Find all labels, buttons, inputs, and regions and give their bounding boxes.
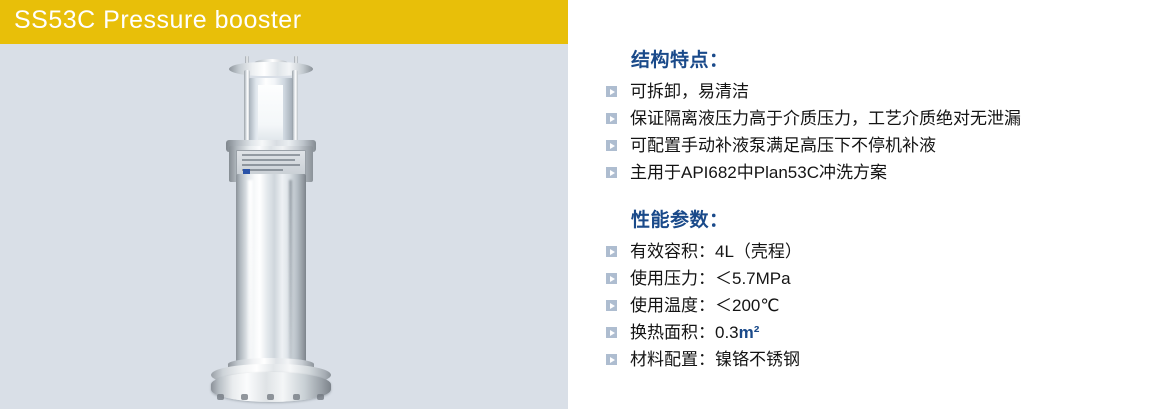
- play-triangle-icon: [606, 140, 617, 151]
- list-item: 可拆卸，易清洁: [606, 80, 1165, 103]
- list-item: 使用压力： ＜5.7MPa: [606, 267, 1165, 290]
- vessel-body: [236, 174, 306, 374]
- parameter-value: 镍铬不锈钢: [715, 348, 800, 371]
- list-item: 主用于API682中Plan53C冲洗方案: [606, 161, 1165, 184]
- play-triangle-icon: [606, 354, 617, 365]
- base-bolts: [211, 388, 331, 400]
- list-item-label: 主用于API682中Plan53C冲洗方案: [630, 161, 887, 184]
- parameter-label: 换热面积：: [630, 321, 715, 344]
- product-title-bar: SS53C Pressure booster: [0, 0, 568, 44]
- parameter-label: 使用温度：: [630, 294, 715, 317]
- section-structure: 结构特点： 可拆卸，易清洁 保证隔离液压力高于介质压力，工艺介质绝对无泄漏 可配…: [568, 45, 1165, 188]
- structure-feature-list: 可拆卸，易清洁 保证隔离液压力高于介质压力，工艺介质绝对无泄漏 可配置手动补液泵…: [568, 80, 1165, 184]
- list-item: 换热面积： 0.3 m²: [606, 321, 1165, 344]
- spec-panel: 结构特点： 可拆卸，易清洁 保证隔离液压力高于介质压力，工艺介质绝对无泄漏 可配…: [568, 0, 1165, 409]
- list-item: 有效容积： 4L（壳程）: [606, 240, 1165, 263]
- play-triangle-icon: [606, 246, 617, 257]
- play-triangle-icon: [606, 113, 617, 124]
- list-item-label: 可拆卸，易清洁: [630, 80, 749, 103]
- page-title: SS53C Pressure booster: [14, 6, 302, 35]
- parameter-label: 材料配置：: [630, 348, 715, 371]
- play-triangle-icon: [606, 273, 617, 284]
- list-item: 保证隔离液压力高于介质压力，工艺介质绝对无泄漏: [606, 107, 1165, 130]
- list-item: 材料配置： 镍铬不锈钢: [606, 348, 1165, 371]
- parameter-value: 4L（壳程）: [715, 240, 802, 263]
- product-panel: SS53C Pressure booster: [0, 0, 568, 409]
- top-flange: [229, 62, 313, 76]
- product-photo: [0, 44, 568, 409]
- performance-parameter-list: 有效容积： 4L（壳程） 使用压力： ＜5.7MPa 使用温度： ＜200℃ 换…: [568, 240, 1165, 371]
- list-item-label: 可配置手动补液泵满足高压下不停机补液: [630, 134, 936, 157]
- play-triangle-icon: [606, 167, 617, 178]
- parameter-value: ＜5.7MPa: [715, 267, 791, 290]
- list-item-label: 保证隔离液压力高于介质压力，工艺介质绝对无泄漏: [630, 107, 1021, 130]
- play-triangle-icon: [606, 86, 617, 97]
- section-structure-heading: 结构特点：: [631, 45, 1165, 72]
- list-item: 使用温度： ＜200℃: [606, 294, 1165, 317]
- section-performance-heading: 性能参数：: [631, 205, 1165, 232]
- section-performance: 性能参数： 有效容积： 4L（壳程） 使用压力： ＜5.7MPa 使用温度： ＜…: [568, 205, 1165, 375]
- sight-glass-inner: [258, 85, 283, 142]
- parameter-value: 0.3: [715, 321, 739, 344]
- parameter-label: 使用压力：: [630, 267, 715, 290]
- pressure-booster-illustration: [196, 64, 346, 404]
- play-triangle-icon: [606, 300, 617, 311]
- body-shadow: [289, 180, 292, 370]
- parameter-unit: m²: [739, 321, 760, 344]
- list-item: 可配置手动补液泵满足高压下不停机补液: [606, 134, 1165, 157]
- parameter-value: ＜200℃: [715, 294, 779, 317]
- play-triangle-icon: [606, 327, 617, 338]
- parameter-label: 有效容积：: [630, 240, 715, 263]
- body-highlight: [248, 180, 253, 370]
